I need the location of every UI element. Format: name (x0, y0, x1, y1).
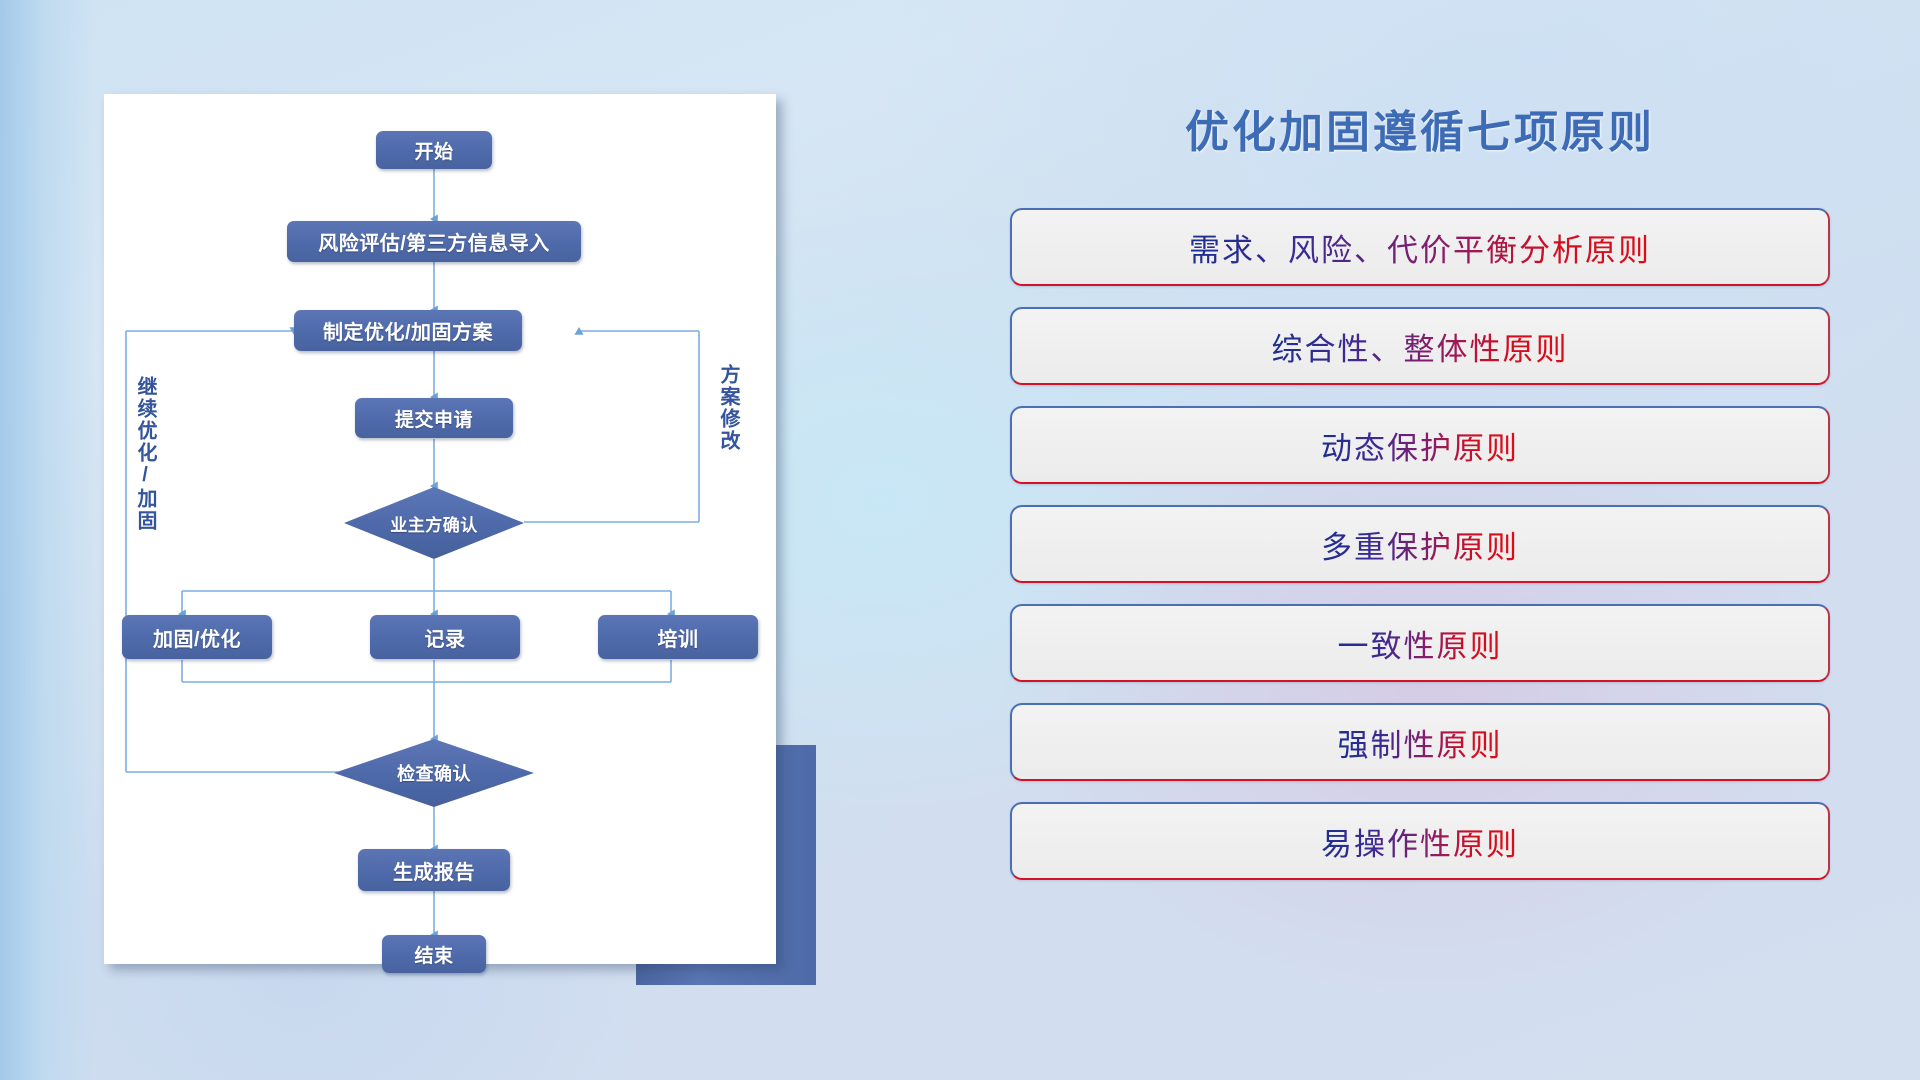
flow-edge-label-plan-revision: 方案修改 (717, 364, 738, 452)
flow-node-submit[interactable]: 提交申请 (355, 398, 513, 438)
principle-item-7[interactable]: 易操作性原则 (1010, 802, 1830, 880)
principle-item-1[interactable]: 需求、风险、代价平衡分析原则 (1010, 208, 1830, 286)
flow-node-plan[interactable]: 制定优化/加固方案 (294, 310, 522, 351)
flow-node-label: 加固/优化 (153, 623, 241, 652)
flow-node-reinforce[interactable]: 加固/优化 (122, 615, 272, 659)
flow-node-start[interactable]: 开始 (376, 131, 492, 169)
flow-node-end[interactable]: 结束 (382, 935, 486, 973)
principle-item-6[interactable]: 强制性原则 (1010, 703, 1830, 781)
principle-label: 动态保护原则 (1321, 423, 1519, 468)
principles-panel: 优化加固遵循七项原则 需求、风险、代价平衡分析原则 综合性、整体性原则 动态保护… (1010, 96, 1830, 1016)
flow-node-label: 记录 (425, 623, 466, 652)
flow-node-risk-assessment[interactable]: 风险评估/第三方信息导入 (287, 221, 581, 262)
principle-label: 需求、风险、代价平衡分析原则 (1189, 225, 1651, 270)
flow-node-label: 提交申请 (395, 405, 473, 432)
principle-label: 综合性、整体性原则 (1272, 324, 1569, 369)
principle-label: 多重保护原则 (1321, 522, 1519, 567)
flow-edge-label-continue-optimize: 继续优化/加固 (134, 376, 155, 532)
flow-node-label: 业主方确认 (390, 511, 478, 536)
principle-label: 易操作性原则 (1321, 819, 1519, 864)
flow-node-record[interactable]: 记录 (370, 615, 520, 659)
flow-node-label: 制定优化/加固方案 (323, 316, 493, 345)
flow-node-owner-confirm[interactable]: 业主方确认 (344, 487, 524, 559)
flow-node-label: 结束 (414, 941, 453, 968)
principle-item-3[interactable]: 动态保护原则 (1010, 406, 1830, 484)
principle-item-4[interactable]: 多重保护原则 (1010, 505, 1830, 583)
principles-title: 优化加固遵循七项原则 (1010, 96, 1830, 160)
flow-node-report[interactable]: 生成报告 (358, 849, 510, 891)
flow-node-label: 生成报告 (393, 856, 475, 885)
principle-item-2[interactable]: 综合性、整体性原则 (1010, 307, 1830, 385)
flowchart-card: 开始 风险评估/第三方信息导入 制定优化/加固方案 提交申请 业主方确认 加固/… (104, 94, 776, 964)
flow-node-label: 检查确认 (397, 760, 471, 786)
flow-node-label: 风险评估/第三方信息导入 (318, 227, 550, 256)
flow-node-label: 开始 (414, 137, 453, 164)
principle-item-5[interactable]: 一致性原则 (1010, 604, 1830, 682)
principle-label: 强制性原则 (1338, 720, 1503, 765)
flow-node-label: 培训 (658, 623, 699, 652)
flow-node-check-confirm[interactable]: 检查确认 (334, 739, 534, 807)
flow-node-training[interactable]: 培训 (598, 615, 758, 659)
principle-label: 一致性原则 (1338, 621, 1503, 666)
